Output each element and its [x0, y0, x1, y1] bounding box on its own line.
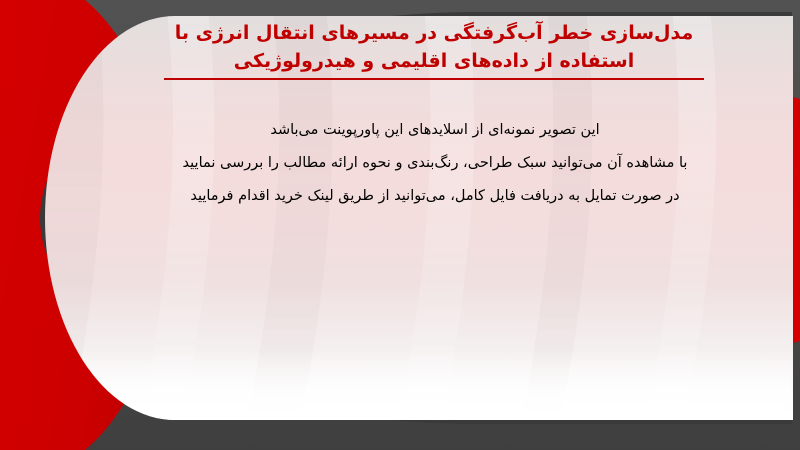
- content-panel: [45, 16, 793, 420]
- background-arc-texture: [45, 16, 793, 420]
- panel-bottom-fade: [45, 350, 793, 420]
- presentation-slide: مدل‌سازی خطر آب‌گرفتگی در مسیرهای انتقال…: [0, 0, 800, 450]
